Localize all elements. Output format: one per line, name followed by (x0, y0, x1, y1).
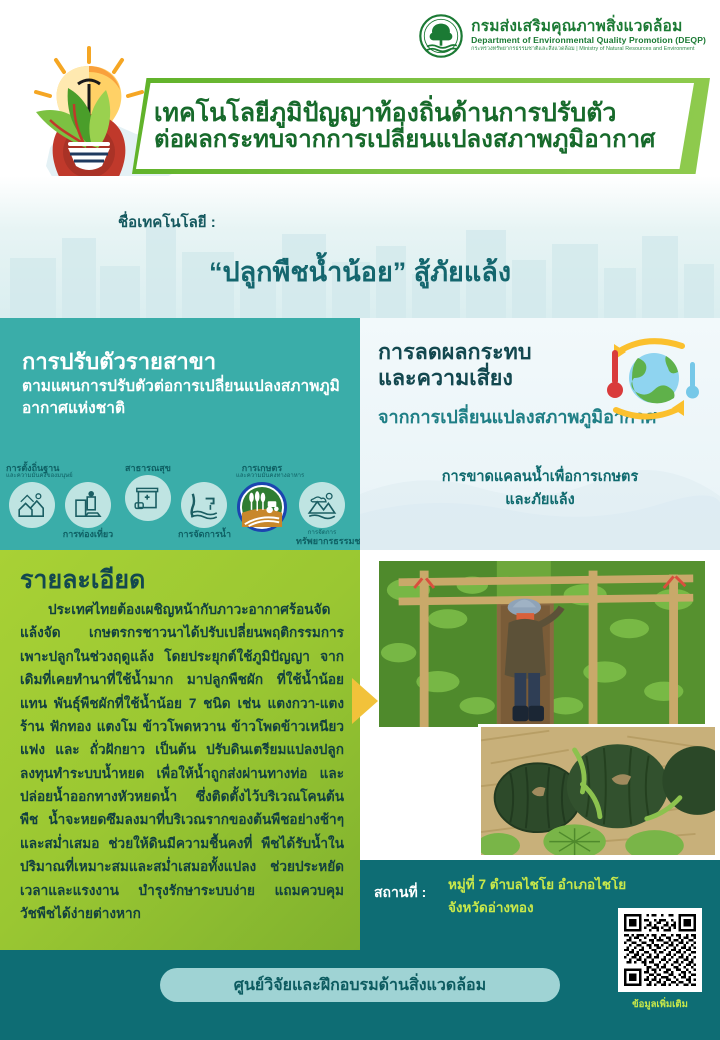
technology-name-band: ชื่อเทคโนโลยี : “ปลูกพืชน้ำน้อย” สู้ภัยแ… (0, 176, 720, 318)
mitigation-title-line-1: การลดผลกระทบ (378, 340, 608, 366)
green-pumpkins-straw-photo (478, 724, 718, 858)
title-line-2: ต่อผลกระทบจากการเปลี่ยนแปลงสภาพภูมิอากาศ (154, 127, 680, 154)
center-name: ศูนย์วิจัยและฝึกอบรมด้านสิ่งแวดล้อม (234, 973, 486, 998)
natural-resources-mountain-icon (299, 482, 345, 528)
yellow-arrow-marker-icon (352, 678, 378, 724)
impact-line-2: และภัยแล้ง (360, 489, 720, 512)
settlement-houses-icon (9, 482, 55, 528)
sector-item-agriculture[interactable]: การเกษตร และความมั่นคงทางอาหาร (236, 464, 288, 532)
sector-label-agriculture: การเกษตร และความมั่นคงทางอาหาร (236, 464, 288, 480)
adaptation-title: การปรับตัวรายสาขา (22, 344, 216, 379)
farmer-trellis-vegetable-photo (376, 558, 708, 730)
technology-label: ชื่อเทคโนโลยี : (118, 210, 216, 234)
ministry-line: กระทรวงทรัพยากรธรรมชาติและสิ่งแวดล้อม | … (471, 47, 706, 53)
sector-item-tourism[interactable]: การท่องเที่ยว (62, 482, 114, 539)
footer-bar: ศูนย์วิจัยและฝึกอบรมด้านสิ่งแวดล้อม (0, 950, 720, 1040)
water-management-faucet-icon (181, 482, 227, 528)
adaptation-subtitle: ตามแผนการปรับตัวต่อการเปลี่ยนแปลงสภาพภูม… (22, 376, 342, 421)
sector-label-natural-resources: การจัดการ ทรัพยากรธรรมชาติ (296, 530, 348, 546)
sector-label-settlement: การตั้งถิ่นฐาน และความมั่นคงของมนุษย์ (6, 464, 58, 480)
deqp-tree-seal-icon (419, 14, 463, 58)
poster-title: เทคโนโลยีภูมิปัญญาท้องถิ่นด้านการปรับตัว… (132, 78, 710, 174)
agriculture-wheat-tractor-icon (237, 482, 287, 532)
thermometer-cold-icon (686, 362, 699, 399)
department-name-th: กรมส่งเสริมคุณภาพสิ่งแวดล้อม (471, 19, 706, 35)
title-line-1: เทคโนโลยีภูมิปัญญาท้องถิ่นด้านการปรับตัว (154, 99, 680, 127)
sector-label-water-management: การจัดการน้ำ (178, 530, 230, 539)
impact-line-1: การขาดแคลนน้ำเพื่อการเกษตร (360, 466, 720, 489)
detail-title: รายละเอียด (20, 560, 145, 600)
sector-item-natural-resources[interactable]: การจัดการ ทรัพยากรธรรมชาติ (296, 482, 348, 546)
thermometer-hot-icon (607, 350, 623, 398)
detail-body-text: ประเทศไทยต้องเผชิญหน้ากับภาวะอากาศร้อนจั… (20, 598, 344, 925)
place-label: สถานที่ : (374, 882, 426, 904)
public-health-hospital-icon (125, 475, 171, 521)
poster-root: กรมส่งเสริมคุณภาพสิ่งแวดล้อม Department … (0, 0, 720, 1040)
technology-name: “ปลูกพืชน้ำน้อย” สู้ภัยแล้ง (0, 250, 720, 293)
photo-and-place-section: สถานที่ : หมู่ที่ 7 ตำบลไชโย อำเภอไชโย จ… (360, 550, 720, 950)
department-text-block: กรมส่งเสริมคุณภาพสิ่งแวดล้อม Department … (471, 19, 706, 53)
qr-block: ข้อมูลเพิ่มเติม (618, 908, 702, 1012)
detail-panel: รายละเอียด ประเทศไทยต้องเผชิญหน้ากับภาวะ… (0, 550, 360, 950)
mitigation-title: การลดผลกระทบ และความเสี่ยง (378, 340, 608, 392)
qr-caption: ข้อมูลเพิ่มเติม (618, 997, 702, 1012)
center-name-pill: ศูนย์วิจัยและฝึกอบรมด้านสิ่งแวดล้อม (160, 968, 560, 1002)
tourism-city-car-icon (65, 482, 111, 528)
department-name-en: Department of Environmental Quality Prom… (471, 36, 706, 45)
header-band: กรมส่งเสริมคุณภาพสิ่งแวดล้อม Department … (0, 0, 720, 200)
place-line-1: หมู่ที่ 7 ตำบลไชโย อำเภอไชโย (448, 874, 668, 897)
sector-label-tourism: การท่องเที่ยว (62, 530, 114, 539)
mitigation-title-line-2: และความเสี่ยง (378, 366, 608, 392)
title-ribbon: เทคโนโลยีภูมิปัญญาท้องถิ่นด้านการปรับตัว… (132, 78, 710, 174)
mitigation-panel: การลดผลกระทบ และความเสี่ยง จากการเปลี่ยน… (360, 318, 720, 550)
adaptation-panel: การปรับตัวรายสาขา ตามแผนการปรับตัวต่อการ… (0, 318, 360, 550)
sector-item-settlement[interactable]: การตั้งถิ่นฐาน และความมั่นคงของมนุษย์ (6, 464, 58, 528)
sector-item-public-health[interactable]: สาธารณสุข (122, 464, 174, 521)
globe-thermometer-cycle-icon (590, 332, 708, 422)
qr-code-icon[interactable] (618, 908, 702, 992)
sector-label-public-health: สาธารณสุข (122, 464, 174, 473)
sector-icon-row: การตั้งถิ่นฐาน และความมั่นคงของมนุษย์ (4, 464, 360, 548)
department-logo-row: กรมส่งเสริมคุณภาพสิ่งแวดล้อม Department … (419, 14, 706, 58)
sector-item-water-management[interactable]: การจัดการน้ำ (178, 482, 230, 539)
impact-text: การขาดแคลนน้ำเพื่อการเกษตร และภัยแล้ง (360, 466, 720, 512)
